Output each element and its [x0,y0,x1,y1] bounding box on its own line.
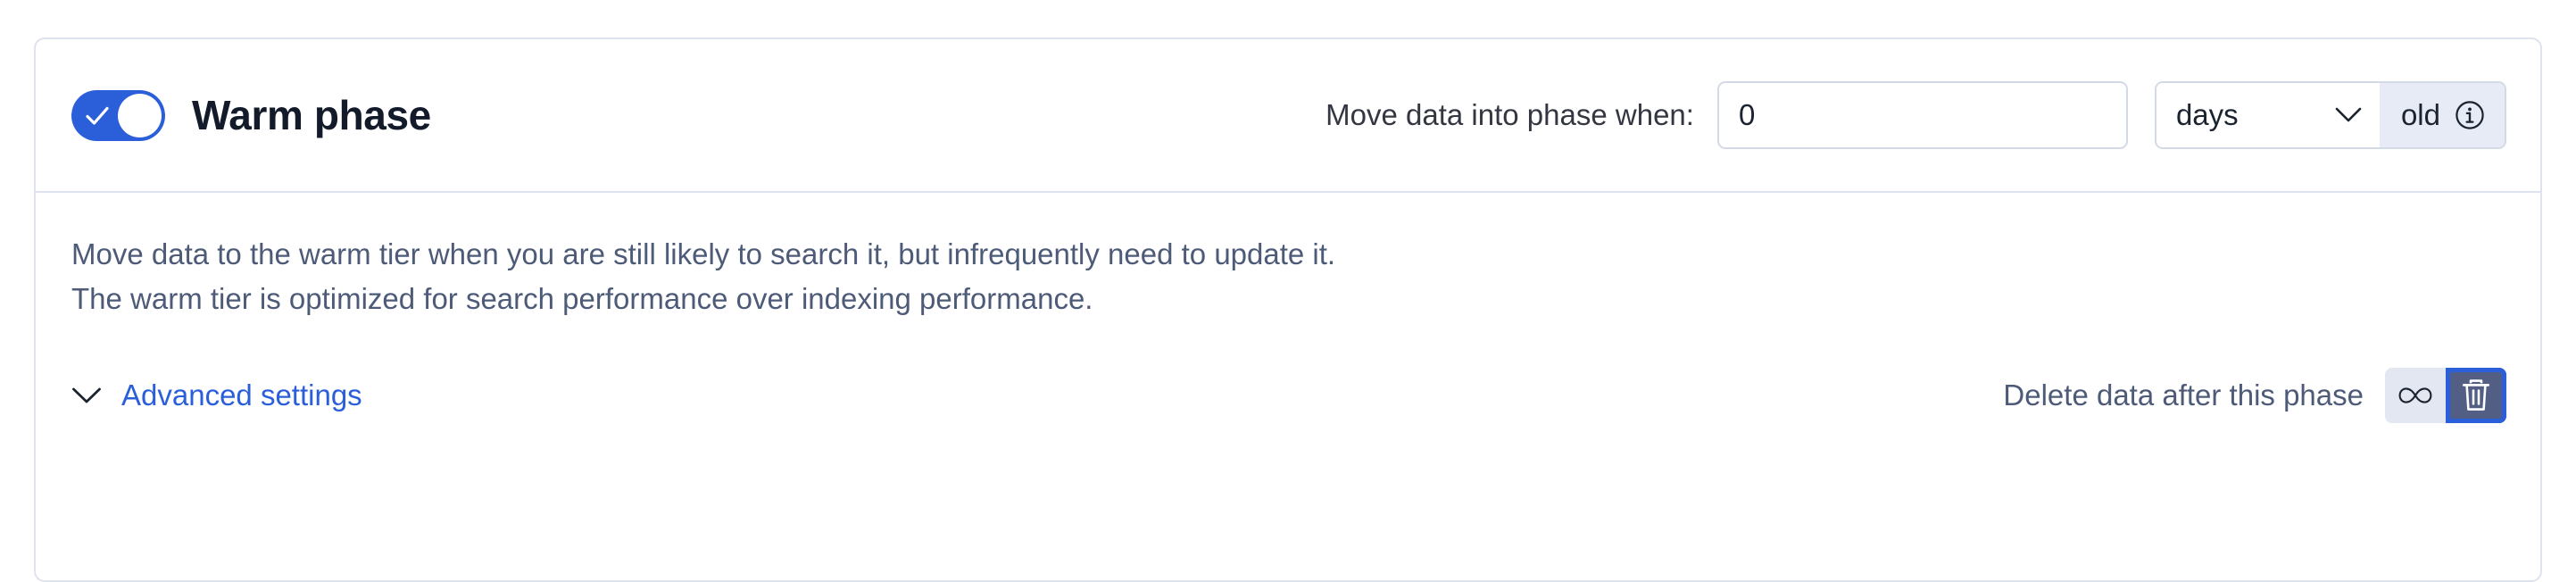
advanced-settings-toggle[interactable]: Advanced settings [71,378,362,412]
min-age-input[interactable] [1717,81,2128,149]
toggle-knob [118,94,162,137]
warm-phase-card: Warm phase Move data into phase when: da… [34,37,2542,582]
move-data-label: Move data into phase when: [1325,98,1694,132]
warm-phase-toggle[interactable] [71,90,165,141]
delete-data-label: Delete data after this phase [2003,378,2364,412]
info-circle-icon[interactable] [2455,100,2485,130]
check-icon [85,104,110,129]
card-body: Move data to the warm tier when you are … [36,193,2540,423]
header-right-group: Move data into phase when: days old [1325,81,2506,149]
card-bottom-row: Advanced settings Delete data after this… [71,368,2506,423]
unit-suffix-label: old [2401,98,2440,132]
phase-description: Move data to the warm tier when you are … [71,232,1375,321]
unit-select[interactable]: days [2156,83,2380,147]
chevron-down-icon [71,387,102,404]
page-title: Warm phase [192,91,431,139]
unit-select-value: days [2176,98,2239,132]
unit-append: old [2380,83,2505,147]
trash-icon [2461,378,2491,412]
advanced-settings-label: Advanced settings [121,378,362,412]
keep-data-forever-button[interactable] [2385,368,2446,423]
page-root: Warm phase Move data into phase when: da… [0,0,2576,530]
delete-data-button[interactable] [2446,368,2506,423]
infinity-icon [2397,386,2433,405]
header-left-group: Warm phase [71,90,431,141]
card-header: Warm phase Move data into phase when: da… [36,39,2540,193]
unit-group: days old [2155,81,2506,149]
chevron-down-icon [2335,107,2362,123]
delete-data-area: Delete data after this phase [2003,368,2506,423]
delete-option-group [2385,368,2506,423]
